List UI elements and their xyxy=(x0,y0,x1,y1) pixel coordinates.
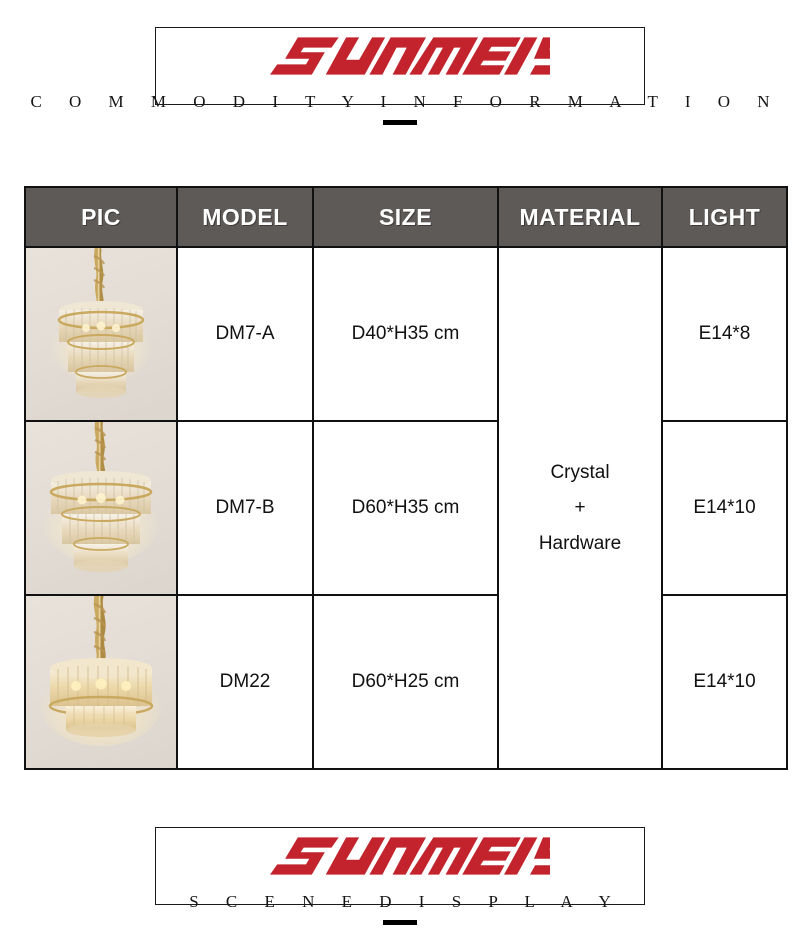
spec-table-container: PIC MODEL SIZE MATERIAL LIGHT xyxy=(24,186,776,760)
table-row: DM7-A D40*H35 cm Crystal + Hardware E14*… xyxy=(25,247,787,421)
cell-light: E14*10 xyxy=(662,421,787,595)
dash-divider-icon xyxy=(383,120,417,125)
table-header-row: PIC MODEL SIZE MATERIAL LIGHT xyxy=(25,187,787,247)
spec-table: PIC MODEL SIZE MATERIAL LIGHT xyxy=(24,186,788,770)
column-header-size: SIZE xyxy=(313,187,498,247)
chandelier-image-dm7b xyxy=(26,422,176,594)
dash-divider-icon xyxy=(383,920,417,925)
product-image-cell-dm7b xyxy=(25,421,177,595)
cell-size: D60*H25 cm xyxy=(313,595,498,769)
product-image-cell-dm7a xyxy=(25,247,177,421)
cell-light: E14*10 xyxy=(662,595,787,769)
cell-material-merged: Crystal + Hardware xyxy=(498,247,662,769)
product-image-cell-dm22 xyxy=(25,595,177,769)
top-banner: C O M M O D I T Y I N F O R M A T I O N xyxy=(0,20,800,140)
material-line-3: Hardware xyxy=(499,526,661,561)
material-line-1: Crystal xyxy=(499,455,661,490)
column-header-light: LIGHT xyxy=(662,187,787,247)
bottom-banner-subtitle: S C E N E D I S P L A Y xyxy=(0,892,800,912)
top-banner-subtitle: C O M M O D I T Y I N F O R M A T I O N xyxy=(0,92,800,112)
cell-light: E14*8 xyxy=(662,247,787,421)
cell-size: D40*H35 cm xyxy=(313,247,498,421)
cell-model: DM22 xyxy=(177,595,313,769)
column-header-pic: PIC xyxy=(25,187,177,247)
bottom-banner: S C E N E D I S P L A Y xyxy=(0,820,800,940)
chandelier-image-dm7a xyxy=(26,248,176,420)
table-row: DM22 D60*H25 cm E14*10 xyxy=(25,595,787,769)
material-line-2: + xyxy=(499,490,661,525)
column-header-model: MODEL xyxy=(177,187,313,247)
table-row: DM7-B D60*H35 cm E14*10 xyxy=(25,421,787,595)
cell-model: DM7-A xyxy=(177,247,313,421)
cell-size: D60*H35 cm xyxy=(313,421,498,595)
column-header-material: MATERIAL xyxy=(498,187,662,247)
cell-model: DM7-B xyxy=(177,421,313,595)
chandelier-image-dm22 xyxy=(26,596,176,768)
